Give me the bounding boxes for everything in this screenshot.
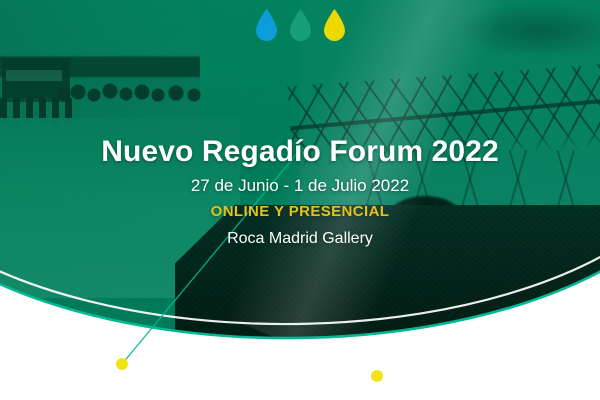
event-banner: Nuevo Regadío Forum 2022 27 de Junio - 1… [0, 0, 600, 400]
banner-text-block: Nuevo Regadío Forum 2022 27 de Junio - 1… [0, 135, 600, 249]
water-drop-green-icon [288, 8, 313, 43]
water-drop-blue-icon [254, 8, 279, 43]
droplet-group [0, 8, 600, 43]
event-venue: Roca Madrid Gallery [0, 228, 600, 249]
water-drop-yellow-icon [322, 8, 347, 43]
event-title: Nuevo Regadío Forum 2022 [0, 135, 600, 169]
event-dates: 27 de Junio - 1 de Julio 2022 [0, 175, 600, 197]
event-modality: ONLINE Y PRESENCIAL [0, 202, 600, 222]
